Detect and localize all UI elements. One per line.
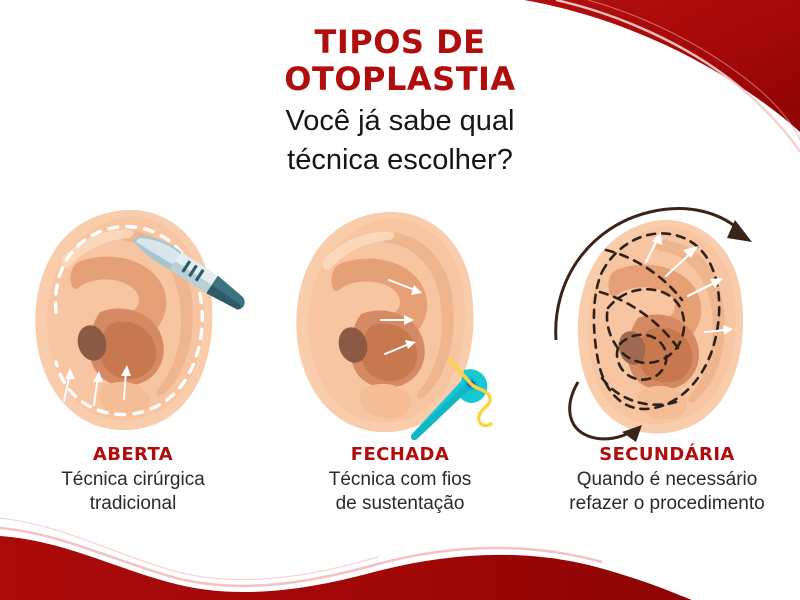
technique-label: FECHADA	[275, 444, 525, 465]
description-line-1: Quando é necessário	[577, 469, 758, 490]
technique-label: ABERTA	[8, 444, 258, 465]
technique-card-aberta: ABERTA Técnica cirúrgica tradicional	[0, 196, 266, 516]
ear-with-scalpel-illustration	[8, 196, 258, 446]
techniques-row: ABERTA Técnica cirúrgica tradicional	[0, 196, 800, 516]
technique-label: SECUNDÁRIA	[531, 444, 800, 465]
page-title: TIPOS DE OTOPLASTIA	[0, 24, 800, 98]
description-line-1: Técnica com fios	[329, 469, 472, 490]
ear-with-revision-markings-illustration	[542, 196, 792, 446]
description-line-2: refazer o procedimento	[569, 493, 764, 514]
technique-description: Quando é necessário refazer o procedimen…	[531, 468, 800, 516]
technique-card-secundaria: SECUNDÁRIA Quando é necessário refazer o…	[534, 196, 800, 516]
technique-card-fechada: FECHADA Técnica com fios de sustentação	[267, 196, 533, 516]
technique-description: Técnica com fios de sustentação	[275, 468, 525, 516]
caption-aberta: ABERTA Técnica cirúrgica tradicional	[8, 444, 258, 516]
subtitle-line-1: Você já sabe qual	[286, 105, 515, 137]
title-line-1: TIPOS DE	[315, 23, 486, 61]
caption-fechada: FECHADA Técnica com fios de sustentação	[275, 444, 525, 516]
description-line-1: Técnica cirúrgica	[61, 469, 205, 490]
technique-description: Técnica cirúrgica tradicional	[8, 468, 258, 516]
subtitle-line-2: técnica escolher?	[287, 144, 513, 176]
caption-secundaria: SECUNDÁRIA Quando é necessário refazer o…	[531, 444, 800, 516]
title-line-2: OTOPLASTIA	[284, 60, 515, 98]
description-line-2: tradicional	[90, 493, 177, 514]
ear-with-needle-illustration	[275, 196, 525, 446]
description-line-2: de sustentação	[336, 493, 465, 514]
poster-canvas: TIPOS DE OTOPLASTIA Você já sabe qual té…	[0, 0, 800, 600]
title-block: TIPOS DE OTOPLASTIA Você já sabe qual té…	[0, 24, 800, 179]
red-swoosh-bottom-left	[0, 518, 692, 600]
page-subtitle: Você já sabe qual técnica escolher?	[0, 102, 800, 179]
